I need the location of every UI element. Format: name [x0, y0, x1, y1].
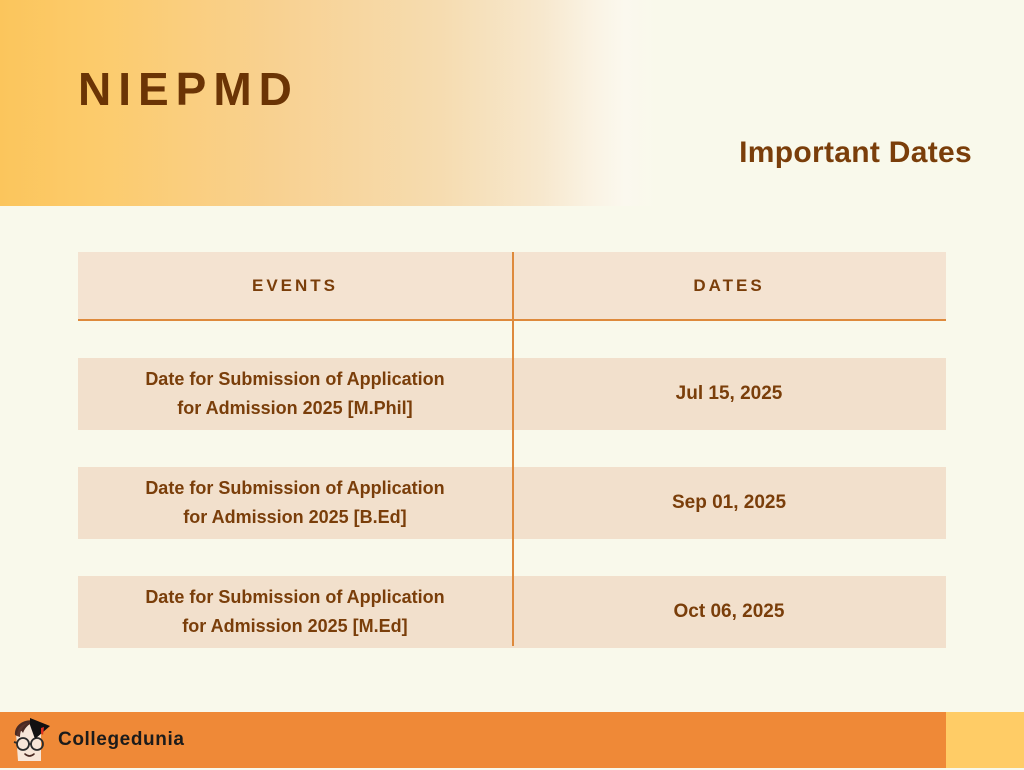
column-header-events: EVENTS	[78, 252, 512, 319]
event-line-2: for Admission 2025 [M.Phil]	[177, 398, 412, 418]
cell-event: Date for Submission of Application for A…	[78, 467, 512, 539]
cell-event: Date for Submission of Application for A…	[78, 576, 512, 648]
cell-date: Sep 01, 2025	[512, 467, 946, 539]
cell-date: Jul 15, 2025	[512, 358, 946, 430]
event-line-1: Date for Submission of Application	[145, 478, 444, 498]
footer-bar: Collegedunia	[0, 712, 1024, 768]
header-band: NIEPMD Important Dates	[0, 0, 1024, 206]
page-title: NIEPMD	[78, 66, 299, 112]
column-header-dates: DATES	[512, 252, 946, 319]
table-column-divider	[512, 252, 514, 646]
graduate-face-icon	[8, 715, 52, 765]
cell-event: Date for Submission of Application for A…	[78, 358, 512, 430]
footer-brand-name: Collegedunia	[58, 729, 185, 751]
event-line-1: Date for Submission of Application	[145, 369, 444, 389]
footer-right-band	[946, 712, 1024, 768]
cell-date: Oct 06, 2025	[512, 576, 946, 648]
event-line-2: for Admission 2025 [M.Ed]	[182, 616, 407, 636]
event-line-1: Date for Submission of Application	[145, 587, 444, 607]
footer-brand: Collegedunia	[8, 712, 185, 768]
event-line-2: for Admission 2025 [B.Ed]	[183, 507, 406, 527]
section-title: Important Dates	[739, 136, 972, 170]
